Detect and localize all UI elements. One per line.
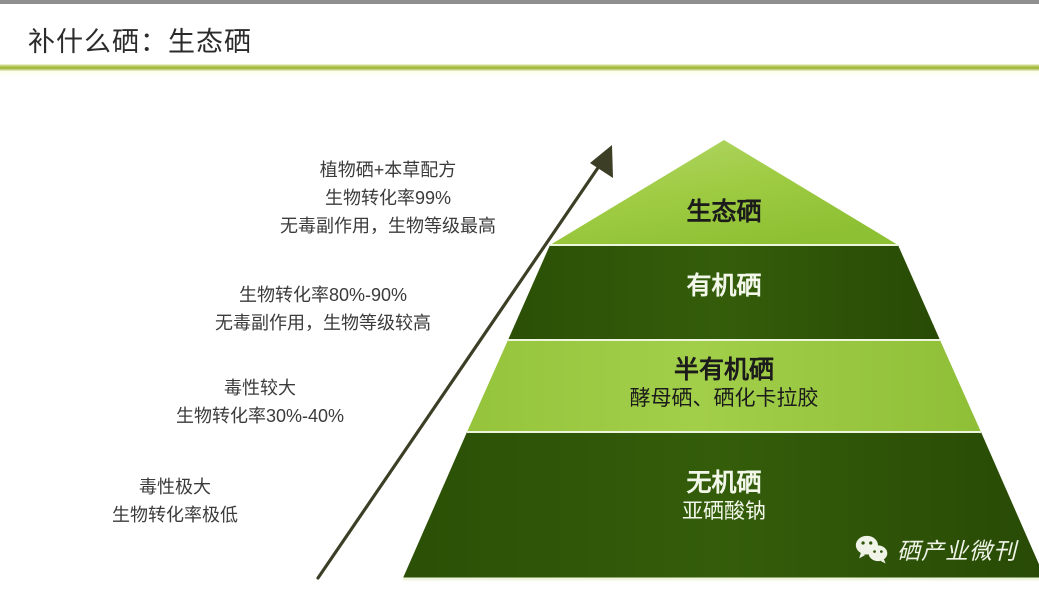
watermark-text: 硒产业微刊	[897, 532, 1017, 566]
desc-ecological: 植物硒+本草配方 生物转化率99% 无毒副作用，生物等级最高	[238, 157, 538, 241]
desc-line: 无毒副作用，生物等级较高	[173, 310, 473, 338]
desc-line: 毒性极大	[35, 474, 315, 502]
desc-line: 生物转化率极低	[35, 502, 315, 530]
desc-line: 生物转化率99%	[238, 185, 538, 213]
desc-line: 毒性较大	[115, 375, 405, 403]
desc-line: 生物转化率80%-90%	[173, 282, 473, 310]
desc-line: 无毒副作用，生物等级最高	[238, 213, 538, 241]
desc-inorganic: 毒性极大 生物转化率极低	[35, 474, 315, 530]
slide-canvas: 补什么硒：生态硒	[0, 0, 1039, 602]
wechat-icon	[855, 534, 889, 564]
pyramid-tier-organic	[508, 245, 940, 340]
desc-organic: 生物转化率80%-90% 无毒副作用，生物等级较高	[173, 282, 473, 338]
desc-line: 生物转化率30%-40%	[115, 403, 405, 431]
desc-semi-organic: 毒性较大 生物转化率30%-40%	[115, 375, 405, 431]
desc-line: 植物硒+本草配方	[238, 157, 538, 185]
watermark: 硒产业微刊	[855, 532, 1017, 566]
pyramid-tier-semi-organic	[467, 340, 981, 432]
